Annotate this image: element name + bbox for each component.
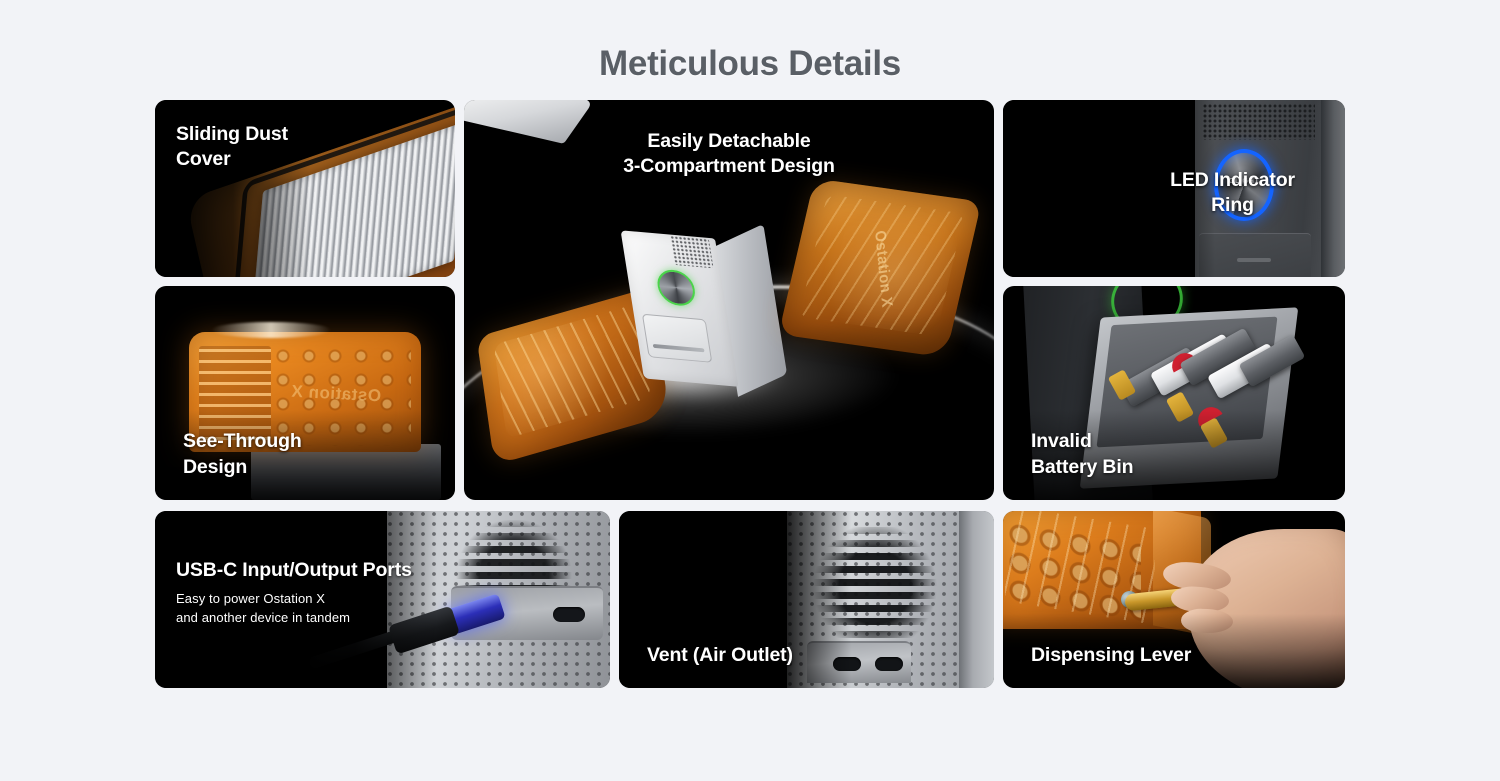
dispensing-lever-label: Dispensing Lever [1031, 643, 1191, 668]
vent-air-outlet-label: Vent (Air Outlet) [647, 643, 793, 668]
usb-c-ports-title: USB-C Input/Output Ports [176, 559, 412, 581]
usb-c-ports-label: USB-C Input/Output Ports Easy to power O… [176, 533, 412, 653]
feature-card-sliding-dust-cover[interactable]: Sliding Dust Cover [155, 100, 455, 277]
feature-grid-page: Meticulous Details Sliding Dust Cover Os… [0, 0, 1500, 781]
page-title: Meticulous Details [0, 44, 1500, 84]
see-through-design-label: See-Through Design [183, 429, 302, 480]
led-indicator-ring-label: LED Indicator Ring [1120, 168, 1345, 219]
center-module [622, 220, 781, 399]
feature-card-led-indicator-ring[interactable]: OLIGHT LED Indicator Ring [1003, 100, 1345, 277]
feature-card-invalid-battery-bin[interactable]: Invalid Battery Bin [1003, 286, 1345, 500]
right-compartment: Ostation X [779, 178, 982, 357]
usb-c-ports-subtitle: Easy to power Ostation X and another dev… [176, 590, 412, 628]
feature-card-usb-c-ports[interactable]: USB-C Input/Output Ports Easy to power O… [155, 511, 610, 688]
feature-card-dispensing-lever[interactable]: Dispensing Lever [1003, 511, 1345, 688]
feature-card-vent-air-outlet[interactable]: Vent (Air Outlet) [619, 511, 994, 688]
sliding-dust-cover-label: Sliding Dust Cover [176, 122, 288, 173]
feature-card-see-through-design[interactable]: Ostation X See-Through Design [155, 286, 455, 500]
feature-card-grid: Sliding Dust Cover Ostation X See-Throug… [155, 100, 1345, 688]
invalid-battery-bin-label: Invalid Battery Bin [1031, 429, 1133, 480]
easily-detachable-label: Easily Detachable 3-Compartment Design [464, 129, 994, 180]
feature-card-easily-detachable[interactable]: Ostation X Easily Detachable 3-Compartme… [464, 100, 994, 500]
module-grille-icon [670, 235, 714, 268]
